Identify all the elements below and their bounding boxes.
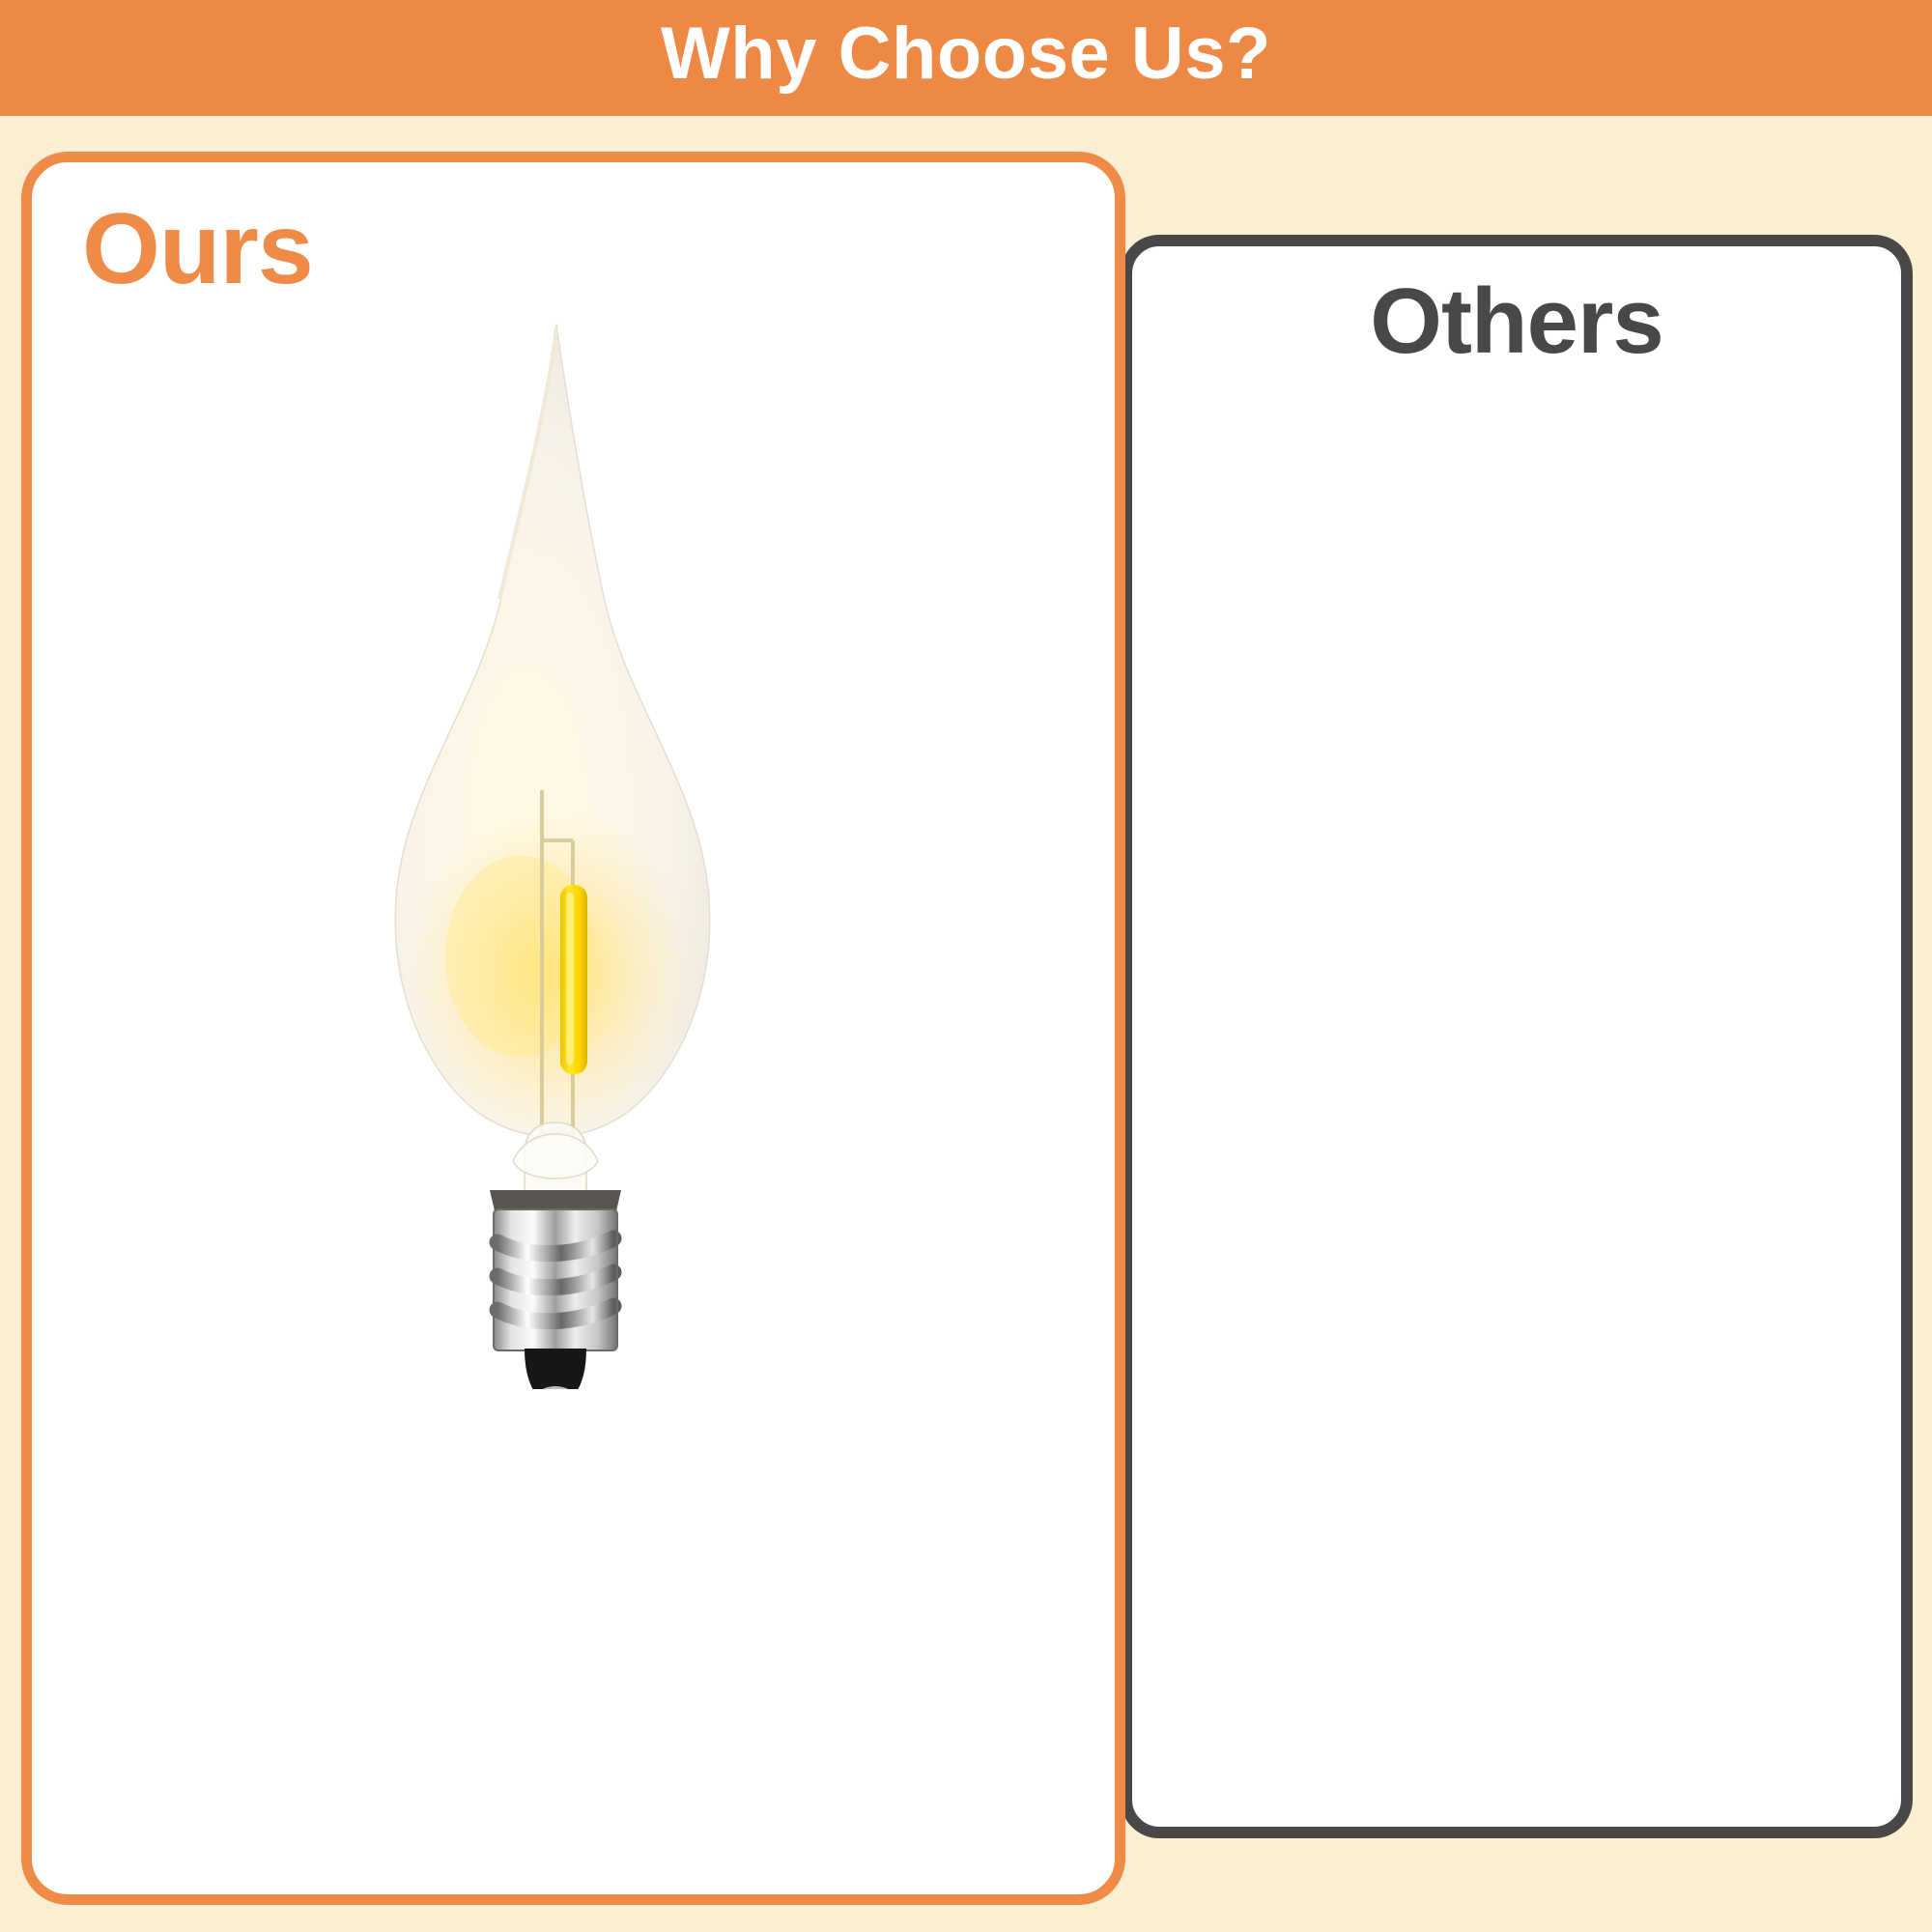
page-title: Why Choose Us?	[0, 0, 1932, 116]
others-card: Others	[1121, 235, 1913, 1838]
ours-title: Ours	[82, 199, 313, 299]
led-flame-tip-bulb-icon	[283, 307, 785, 1389]
ours-card: Ours	[21, 152, 1125, 1905]
header-band: Why Choose Us?	[0, 0, 1932, 116]
others-title: Others	[1132, 275, 1901, 368]
comparison-infographic: Why Choose Us? Others	[0, 0, 1932, 1932]
